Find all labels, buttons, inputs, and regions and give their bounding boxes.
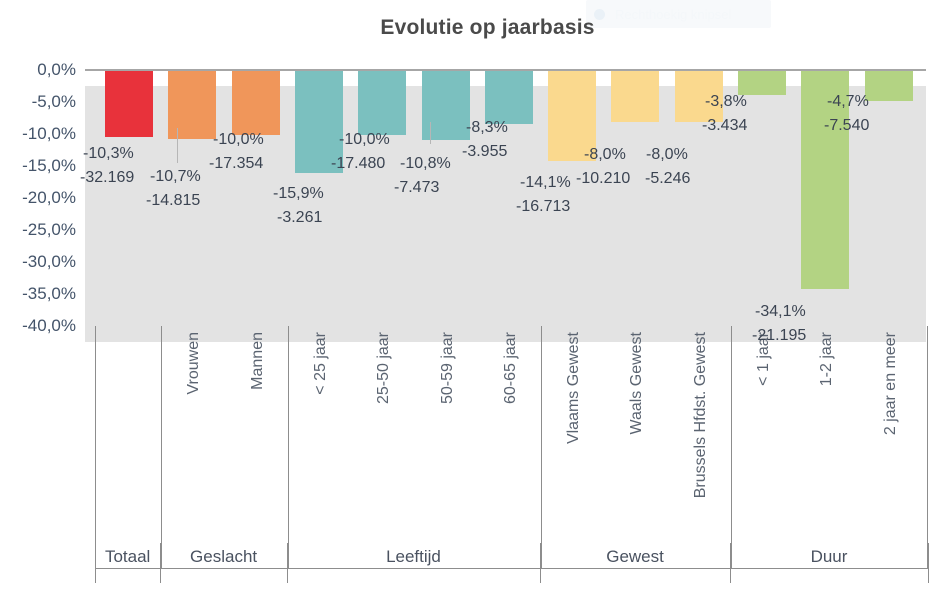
bar-absolute-label: -7.540 [824, 117, 869, 135]
category-axis-label: Waals Gewest [628, 332, 646, 435]
label-leader-line [430, 122, 431, 144]
group-label: Gewest [540, 547, 730, 567]
bar-percent-label: -8,0% [646, 146, 688, 164]
group-label: Geslacht [160, 547, 287, 567]
category-axis-label: 2 jaar en meer [882, 332, 900, 435]
y-axis-tick-label: -20,0% [0, 188, 76, 208]
category-axis-label: < 25 jaar [312, 332, 330, 395]
y-axis-tick-label: -5,0% [0, 92, 76, 112]
chart-band [85, 182, 926, 214]
category-axis-label: Vrouwen [185, 332, 203, 395]
bar-absolute-label: -16.713 [516, 198, 570, 216]
bar-absolute-label: -3.434 [702, 117, 747, 135]
group-label: Leeftijd [287, 547, 540, 567]
category-axis-label: Brussels Hfdst. Gewest [692, 332, 710, 498]
bar-percent-label: -10,8% [400, 155, 451, 173]
bar-percent-label: -3,8% [705, 93, 747, 111]
bar[interactable] [422, 71, 470, 140]
bar-percent-label: -8,0% [584, 146, 626, 164]
bar-absolute-label: -7.473 [394, 179, 439, 197]
y-axis-tick-label: -40,0% [0, 316, 76, 336]
y-axis-tick-label: -15,0% [0, 156, 76, 176]
bar-absolute-label: -3.955 [462, 143, 507, 161]
label-leader-line [177, 128, 178, 163]
category-axis-label: 50-59 jaar [439, 332, 457, 404]
bar-absolute-label: -10.210 [576, 170, 630, 188]
bar[interactable] [611, 71, 659, 122]
bar-absolute-label: -14.815 [146, 192, 200, 210]
bar-absolute-label: -17.480 [331, 155, 385, 173]
bar-percent-label: -10,3% [83, 145, 134, 163]
y-axis-tick-label: -30,0% [0, 252, 76, 272]
bar-absolute-label: -3.261 [277, 209, 322, 227]
category-axis-label: 1-2 jaar [818, 332, 836, 386]
bar[interactable] [232, 71, 280, 135]
bar-percent-label: -8,3% [466, 119, 508, 137]
bar[interactable] [485, 71, 533, 124]
bar-absolute-label: -17.354 [209, 155, 263, 173]
chart-band [85, 214, 926, 246]
group-axis-row: TotaalGeslachtLeeftijdGewestDuur [95, 543, 928, 583]
group-tick [928, 543, 929, 583]
group-separator [288, 326, 289, 569]
bar-percent-label: -10,0% [339, 131, 390, 149]
bar[interactable] [358, 71, 406, 135]
bar-percent-label: -10,0% [213, 131, 264, 149]
y-axis-tick-label: 0,0% [0, 60, 76, 80]
y-axis-tick-label: -35,0% [0, 284, 76, 304]
y-axis-tick-label: -25,0% [0, 220, 76, 240]
bar-percent-label: -14,1% [520, 174, 571, 192]
group-label: Totaal [95, 547, 160, 567]
category-axis-label: 25-50 jaar [375, 332, 393, 404]
category-axis-panel: VrouwenMannen< 25 jaar25-50 jaar50-59 ja… [95, 326, 928, 569]
page-title: Evolutie op jaarbasis [0, 16, 945, 40]
bar[interactable] [738, 71, 786, 95]
bar-percent-label: -10,7% [150, 168, 201, 186]
bar-absolute-label: -5.246 [645, 170, 690, 188]
bar[interactable] [168, 71, 216, 139]
category-axis-label: Vlaams Gewest [565, 332, 583, 444]
group-separator [731, 326, 732, 569]
bar[interactable] [105, 71, 153, 137]
bar[interactable] [865, 71, 913, 101]
bar-percent-label: -34,1% [755, 303, 806, 321]
y-axis-tick-label: -10,0% [0, 124, 76, 144]
category-axis-label: Mannen [249, 332, 267, 390]
group-separator [161, 326, 162, 569]
bar-percent-label: -15,9% [273, 185, 324, 203]
bar-absolute-label: -32.169 [80, 169, 134, 187]
group-label: Duur [730, 547, 928, 567]
chart-band [85, 246, 926, 278]
category-axis-label: 60-65 jaar [502, 332, 520, 404]
bar-percent-label: -4,7% [827, 93, 869, 111]
bar-absolute-label: -21.195 [752, 327, 806, 345]
group-separator [541, 326, 542, 569]
